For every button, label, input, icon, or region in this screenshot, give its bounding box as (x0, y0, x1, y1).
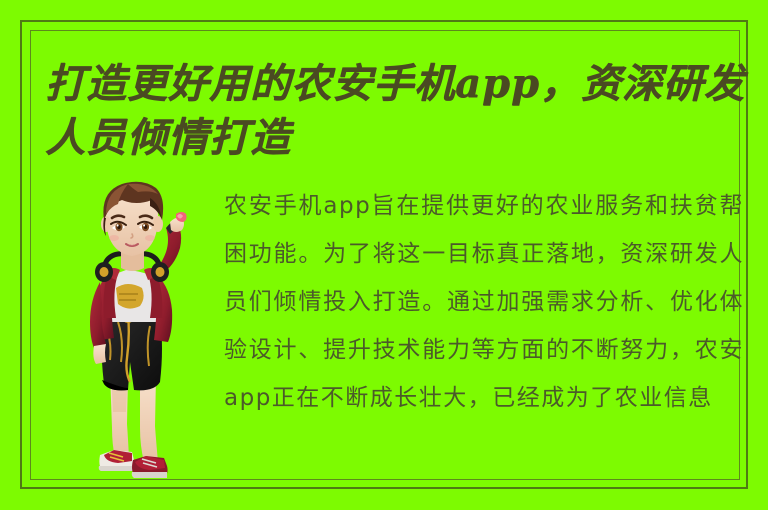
poster-canvas: 打造更好用的农安手机app，资深研发人员倾情打造 (0, 0, 768, 510)
anime-boy-character-illustration (66, 176, 198, 480)
page-title: 打造更好用的农安手机app，资深研发人员倾情打造 (45, 57, 745, 165)
body-paragraph: 农安手机app旨在提供更好的农业服务和扶贫帮困功能。为了将这一目标真正落地，资深… (224, 182, 744, 482)
